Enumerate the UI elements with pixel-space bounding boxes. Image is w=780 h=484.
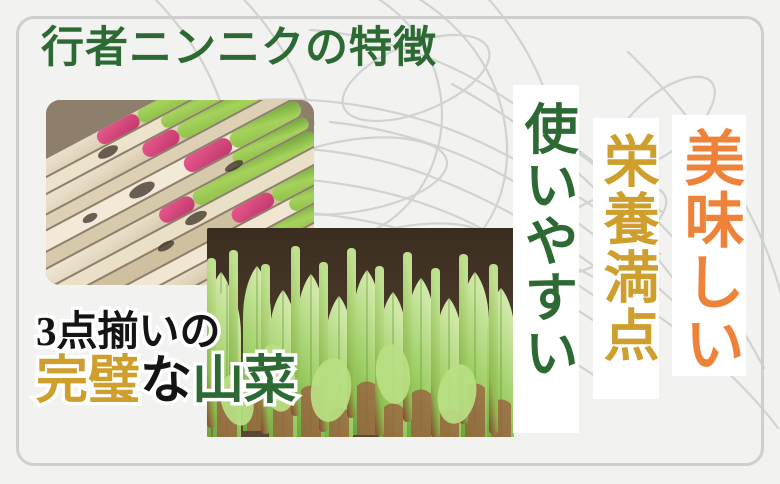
catch-copy-line2-segment-2: な [140, 353, 192, 410]
feature-panel-delicious: 美味しい [672, 115, 746, 376]
catch-copy-line1-segment-1: 3点揃いの [36, 308, 221, 354]
feature-panel-easy-to-use: 使いやすい [513, 85, 579, 433]
catch-copy-line2-segment-3: 山菜 [192, 353, 296, 410]
page-title: 行者ニンニクの特徴 [41, 27, 437, 70]
feature-panel-nutritious-label: 栄養満点 [597, 132, 655, 364]
feature-panel-delicious-label: 美味しい [678, 127, 740, 375]
catch-copy: 3点揃いの 完璧な山菜 [36, 311, 296, 408]
feature-panel-nutritious: 栄養満点 [593, 118, 659, 399]
feature-panel-easy-to-use-label: 使いやすい [518, 101, 574, 381]
promo-banner: 行者ニンニクの特徴 3点揃いの 完璧な山菜 使いやすい 栄養満点 美味しい [0, 0, 780, 484]
catch-copy-line-2: 完璧な山菜 [36, 355, 296, 408]
catch-copy-line2-segment-1: 完璧 [36, 353, 140, 410]
catch-copy-line-1: 3点揃いの [36, 311, 296, 353]
